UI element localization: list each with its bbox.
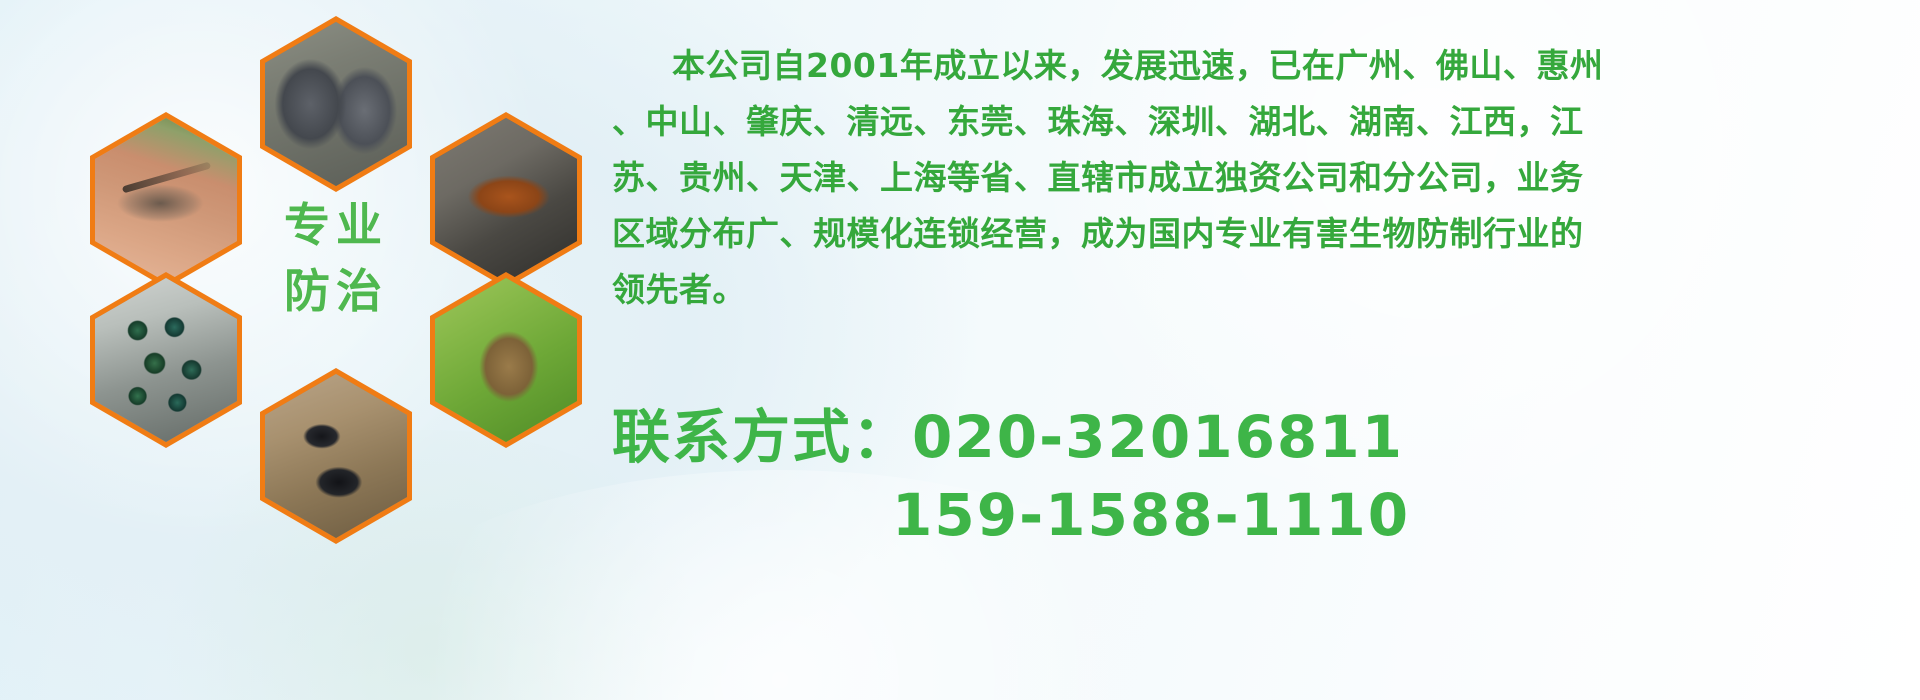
mosquito-photo — [95, 118, 237, 282]
description-line-4: 区域分布广、规模化连锁经营，成为国内专业有害生物防制行业的 — [612, 206, 1908, 262]
description-line-2: 、中山、肇庆、清远、东莞、珠海、深圳、湖北、湖南、江西，江 — [612, 94, 1908, 150]
hex-cell-rats — [260, 16, 412, 192]
hex-cell-cockroach — [430, 112, 582, 288]
description-line-1: 本公司自2001年成立以来，发展迅速，已在广州、佛山、惠州 — [612, 38, 1908, 94]
stinkbug-photo — [435, 278, 577, 442]
flies-photo — [95, 278, 237, 442]
hex-cell-stinkbug — [430, 272, 582, 448]
promo-banner: 专业 防治 本公司自2001年成立以来，发展迅速，已在广州、佛山、惠州 、中山、… — [0, 0, 1920, 700]
description-line-5: 领先者。 — [612, 262, 1908, 318]
hex-cell-mosquito — [90, 112, 242, 288]
contact-block: 联系方式：020-32016811 159-1588-1110 — [612, 398, 1908, 554]
company-description: 本公司自2001年成立以来，发展迅速，已在广州、佛山、惠州 、中山、肇庆、清远、… — [612, 38, 1908, 318]
hex-cell-ants — [260, 368, 412, 544]
contact-phone-mobile[interactable]: 159-1588-1110 — [612, 476, 1908, 554]
hexagon-photo-cluster: 专业 防治 — [90, 0, 590, 580]
description-line-3: 苏、贵州、天津、上海等省、直辖市成立独资公司和分公司，业务 — [612, 150, 1908, 206]
contact-phone-landline[interactable]: 联系方式：020-32016811 — [612, 398, 1908, 476]
hex-center-label: 专业 防治 — [260, 192, 412, 324]
cockroach-photo — [435, 118, 577, 282]
ants-photo — [265, 374, 407, 538]
rats-photo — [265, 22, 407, 186]
hex-cell-flies — [90, 272, 242, 448]
